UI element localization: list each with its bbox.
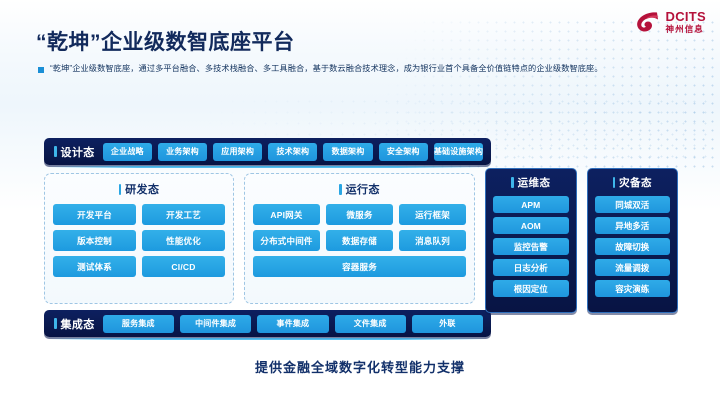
ops-tile[interactable]: 日志分析 [493, 259, 569, 276]
run-tile-wide[interactable]: 容器服务 [253, 256, 466, 277]
dev-tile[interactable]: 版本控制 [53, 230, 136, 251]
footer-caption: 提供金融全域数字化转型能力支撑 [0, 357, 720, 376]
diagram-left-column: 设计态 企业战略 业务架构 应用架构 技术架构 数据架构 安全架构 基础设施架构 [44, 138, 475, 343]
dev-panel-label: 研发态 [125, 181, 159, 197]
dev-tile[interactable]: 开发平台 [53, 204, 136, 225]
dev-tile-row: 版本控制 性能优化 [53, 230, 225, 251]
design-chip[interactable]: 安全架构 [379, 143, 428, 161]
ops-tile[interactable]: 根因定位 [493, 280, 569, 297]
slide-canvas: DCITS 神州信息 “乾坤”企业级数智底座平台 “乾坤”企业级数智底座，通过多… [0, 0, 720, 405]
dev-panel-title-group: 研发态 [53, 181, 225, 197]
ops-column-label: 运维态 [518, 175, 551, 190]
run-tile[interactable]: 数据存储 [326, 230, 393, 251]
integration-chip[interactable]: 事件集成 [257, 315, 328, 333]
run-tile-row: 容器服务 [253, 256, 466, 277]
run-tile-row: API网关 微服务 运行框架 [253, 204, 466, 225]
run-tile-row: 分布式中间件 数据存储 消息队列 [253, 230, 466, 251]
integration-layer-label-group: 集成态 [52, 316, 95, 332]
ops-column: 运维态 APM AOM 监控告警 日志分析 根因定位 [485, 168, 577, 313]
design-chip[interactable]: 应用架构 [213, 143, 262, 161]
logo-text-en: DCITS [666, 10, 707, 23]
run-panel-label: 运行态 [346, 181, 380, 197]
integration-chip-list: 服务集成 中间件集成 事件集成 文件集成 外联 [103, 315, 483, 333]
logo-text-cn: 神州信息 [666, 25, 707, 34]
run-tile[interactable]: 分布式中间件 [253, 230, 320, 251]
accent-bar-icon [54, 318, 57, 329]
ops-tile[interactable]: AOM [493, 217, 569, 234]
design-chip[interactable]: 业务架构 [158, 143, 207, 161]
dev-tile[interactable]: 开发工艺 [142, 204, 225, 225]
run-tile[interactable]: 微服务 [326, 204, 393, 225]
dr-column-label: 灾备态 [619, 175, 652, 190]
middle-panels: 研发态 开发平台 开发工艺 版本控制 性能优化 测试体系 [44, 173, 475, 304]
integration-layer-row: 集成态 服务集成 中间件集成 事件集成 文件集成 外联 [44, 310, 491, 337]
dev-tile[interactable]: 测试体系 [53, 256, 136, 277]
dr-tile-list: 同城双活 异地多活 故障切换 流量调拨 容灾演练 [595, 196, 671, 304]
dr-tile[interactable]: 故障切换 [595, 238, 671, 255]
design-chip[interactable]: 基础设施架构 [434, 143, 483, 161]
accent-bar-icon [54, 146, 57, 157]
run-tile[interactable]: 消息队列 [399, 230, 466, 251]
dr-tile[interactable]: 容灾演练 [595, 280, 671, 297]
run-tile-grid: API网关 微服务 运行框架 分布式中间件 数据存储 消息队列 容器服务 [253, 204, 466, 294]
dr-tile[interactable]: 异地多活 [595, 217, 671, 234]
dr-tile[interactable]: 流量调拨 [595, 259, 671, 276]
run-tile[interactable]: API网关 [253, 204, 320, 225]
accent-bar-icon [613, 177, 616, 188]
accent-bar-icon [119, 184, 122, 195]
square-bullet-icon [38, 67, 44, 73]
integration-chip[interactable]: 外联 [412, 315, 483, 333]
subtitle-block: “乾坤”企业级数智底座，通过多平台融合、多技术栈融合、多工具融合，基于数云融合技… [38, 63, 638, 75]
ops-column-title-group: 运维态 [493, 175, 569, 190]
page-title: “乾坤”企业级数智底座平台 [36, 26, 295, 56]
design-chip[interactable]: 技术架构 [268, 143, 317, 161]
dr-tile[interactable]: 同城双活 [595, 196, 671, 213]
accent-bar-icon [511, 177, 514, 188]
integration-chip[interactable]: 服务集成 [103, 315, 174, 333]
design-layer-row: 设计态 企业战略 业务架构 应用架构 技术架构 数据架构 安全架构 基础设施架构 [44, 138, 491, 165]
dev-tile[interactable]: 性能优化 [142, 230, 225, 251]
ops-tile[interactable]: APM [493, 196, 569, 213]
integration-layer-label: 集成态 [61, 316, 95, 332]
dev-tile-grid: 开发平台 开发工艺 版本控制 性能优化 测试体系 CI/CD [53, 204, 225, 294]
subtitle-text: “乾坤”企业级数智底座，通过多平台融合、多技术栈融合、多工具融合，基于数云融合技… [50, 63, 603, 75]
run-panel: 运行态 API网关 微服务 运行框架 分布式中间件 数据存储 消息队列 [244, 173, 475, 304]
accent-bar-icon [339, 184, 342, 195]
ops-tile[interactable]: 监控告警 [493, 238, 569, 255]
brand-logo: DCITS 神州信息 [635, 10, 707, 34]
design-layer-label-group: 设计态 [52, 144, 95, 160]
dev-panel: 研发态 开发平台 开发工艺 版本控制 性能优化 测试体系 [44, 173, 234, 304]
integration-chip[interactable]: 文件集成 [335, 315, 406, 333]
dr-column-title-group: 灾备态 [595, 175, 671, 190]
design-chip[interactable]: 企业战略 [103, 143, 152, 161]
run-panel-title-group: 运行态 [253, 181, 466, 197]
design-layer-chip-list: 企业战略 业务架构 应用架构 技术架构 数据架构 安全架构 基础设施架构 [103, 143, 483, 161]
dev-tile[interactable]: CI/CD [142, 256, 225, 277]
ops-tile-list: APM AOM 监控告警 日志分析 根因定位 [493, 196, 569, 304]
diagram-right-columns: 运维态 APM AOM 监控告警 日志分析 根因定位 灾备态 同城双活 异地多活 [485, 168, 678, 313]
dev-tile-row: 开发平台 开发工艺 [53, 204, 225, 225]
dev-tile-row: 测试体系 CI/CD [53, 256, 225, 277]
disaster-recovery-column: 灾备态 同城双活 异地多活 故障切换 流量调拨 容灾演练 [587, 168, 679, 313]
run-tile[interactable]: 运行框架 [399, 204, 466, 225]
design-layer-label: 设计态 [61, 144, 95, 160]
design-chip[interactable]: 数据架构 [323, 143, 372, 161]
platform-architecture-diagram: 设计态 企业战略 业务架构 应用架构 技术架构 数据架构 安全架构 基础设施架构 [44, 138, 678, 343]
swoosh-logo-icon [635, 10, 661, 34]
integration-chip[interactable]: 中间件集成 [180, 315, 251, 333]
